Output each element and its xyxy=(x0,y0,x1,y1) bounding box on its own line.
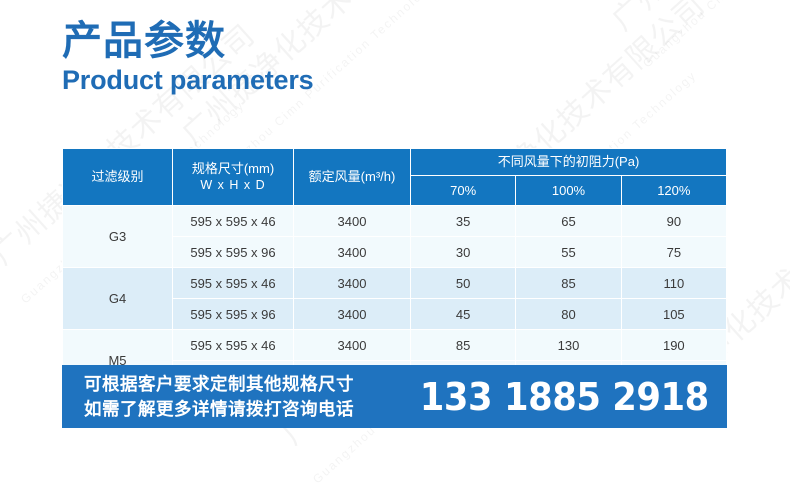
cell-airflow: 3400 xyxy=(294,299,411,330)
contact-phone-number[interactable]: 133 1885 2918 xyxy=(420,375,709,419)
cell-airflow: 3400 xyxy=(294,330,411,361)
cell-resistance-100: 85 xyxy=(516,268,621,299)
cell-airflow: 3400 xyxy=(294,268,411,299)
cell-airflow: 3400 xyxy=(294,206,411,237)
cell-size: 595 x 595 x 46 xyxy=(173,206,294,237)
column-header-size-line2: W x H x D xyxy=(175,177,291,194)
page-title-en: Product parameters xyxy=(62,64,314,98)
column-header-resistance-group: 不同风量下的初阻力(Pa) xyxy=(411,149,727,176)
cell-resistance-70: 85 xyxy=(411,330,516,361)
column-header-resistance-100: 100% xyxy=(516,175,621,206)
page-title: 产品参数 Product parameters xyxy=(62,20,314,98)
contact-banner-line2: 如需了解更多详情请拨打咨询电话 xyxy=(84,397,354,421)
column-header-grade: 过滤级别 xyxy=(63,149,173,206)
page-title-cn: 产品参数 xyxy=(62,20,314,62)
cell-airflow: 3400 xyxy=(294,237,411,268)
cell-resistance-70: 50 xyxy=(411,268,516,299)
table-body: G3 595 x 595 x 46 3400 35 65 90 595 x 59… xyxy=(63,206,727,392)
cell-size: 595 x 595 x 46 xyxy=(173,330,294,361)
cell-resistance-70: 45 xyxy=(411,299,516,330)
table-header-row-primary: 过滤级别 规格尺寸(mm) W x H x D 额定风量(m³/h) 不同风量下… xyxy=(63,149,727,176)
contact-banner-text: 可根据客户要求定制其他规格尺寸 如需了解更多详情请拨打咨询电话 xyxy=(84,372,354,420)
specification-table: 过滤级别 规格尺寸(mm) W x H x D 额定风量(m³/h) 不同风量下… xyxy=(62,148,727,392)
cell-resistance-120: 75 xyxy=(621,237,726,268)
cell-resistance-70: 35 xyxy=(411,206,516,237)
column-header-size: 规格尺寸(mm) W x H x D xyxy=(173,149,294,206)
cell-grade: G3 xyxy=(63,206,173,268)
cell-resistance-100: 80 xyxy=(516,299,621,330)
cell-resistance-120: 90 xyxy=(621,206,726,237)
cell-resistance-100: 130 xyxy=(516,330,621,361)
table-row: G3 595 x 595 x 46 3400 35 65 90 xyxy=(63,206,727,237)
table-row: M5 595 x 595 x 46 3400 85 130 190 xyxy=(63,330,727,361)
cell-resistance-120: 190 xyxy=(621,330,726,361)
cell-resistance-120: 110 xyxy=(621,268,726,299)
cell-size: 595 x 595 x 96 xyxy=(173,237,294,268)
cell-resistance-100: 55 xyxy=(516,237,621,268)
cell-resistance-100: 65 xyxy=(516,206,621,237)
contact-banner: 可根据客户要求定制其他规格尺寸 如需了解更多详情请拨打咨询电话 133 1885… xyxy=(62,365,727,428)
cell-size: 595 x 595 x 96 xyxy=(173,299,294,330)
column-header-size-line1: 规格尺寸(mm) xyxy=(192,161,274,176)
column-header-resistance-70: 70% xyxy=(411,175,516,206)
cell-grade: G4 xyxy=(63,268,173,330)
cell-resistance-70: 30 xyxy=(411,237,516,268)
cell-size: 595 x 595 x 46 xyxy=(173,268,294,299)
column-header-resistance-120: 120% xyxy=(621,175,726,206)
contact-banner-line1: 可根据客户要求定制其他规格尺寸 xyxy=(84,372,354,396)
column-header-airflow: 额定风量(m³/h) xyxy=(294,149,411,206)
table-header: 过滤级别 规格尺寸(mm) W x H x D 额定风量(m³/h) 不同风量下… xyxy=(63,149,727,206)
cell-resistance-120: 105 xyxy=(621,299,726,330)
product-parameters-page: 产品参数 Product parameters 过滤级别 规格尺寸(mm) W … xyxy=(0,0,790,494)
table-row: G4 595 x 595 x 46 3400 50 85 110 xyxy=(63,268,727,299)
